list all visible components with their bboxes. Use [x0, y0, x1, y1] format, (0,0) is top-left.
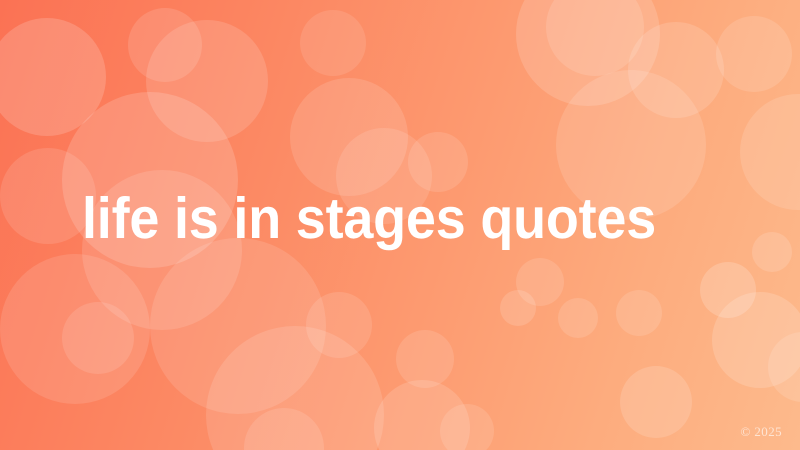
bokeh-circle — [558, 298, 598, 338]
quote-banner: life is in stages quotes © 2025 — [0, 0, 800, 450]
bokeh-circle — [300, 10, 366, 76]
bokeh-circle — [740, 94, 800, 210]
bokeh-circle — [500, 290, 536, 326]
bokeh-circle — [374, 380, 470, 450]
bokeh-circle — [62, 302, 134, 374]
bokeh-circle — [306, 292, 372, 358]
bokeh-circle — [716, 16, 792, 92]
bokeh-circle — [0, 18, 106, 136]
bokeh-circle — [700, 262, 756, 318]
bokeh-circle — [516, 0, 660, 106]
bokeh-circle — [628, 22, 724, 118]
page-title: life is in stages quotes — [82, 186, 696, 252]
bokeh-circle — [620, 366, 692, 438]
bokeh-circle — [0, 254, 150, 404]
bokeh-circle — [128, 8, 202, 82]
bokeh-circle — [768, 332, 800, 402]
bokeh-circle — [396, 330, 454, 388]
bokeh-circle — [440, 404, 494, 450]
bokeh-circle — [244, 408, 324, 450]
bokeh-circle — [546, 0, 644, 76]
bokeh-circle — [150, 238, 326, 414]
bokeh-circle — [712, 292, 800, 388]
bokeh-circle — [146, 20, 268, 142]
bokeh-circle — [516, 258, 564, 306]
bokeh-circle — [290, 78, 408, 196]
bokeh-circle — [408, 132, 468, 192]
copyright-notice: © 2025 — [740, 424, 782, 439]
bokeh-circle — [752, 232, 792, 272]
bokeh-circle — [616, 290, 662, 336]
bokeh-circle — [206, 326, 384, 450]
